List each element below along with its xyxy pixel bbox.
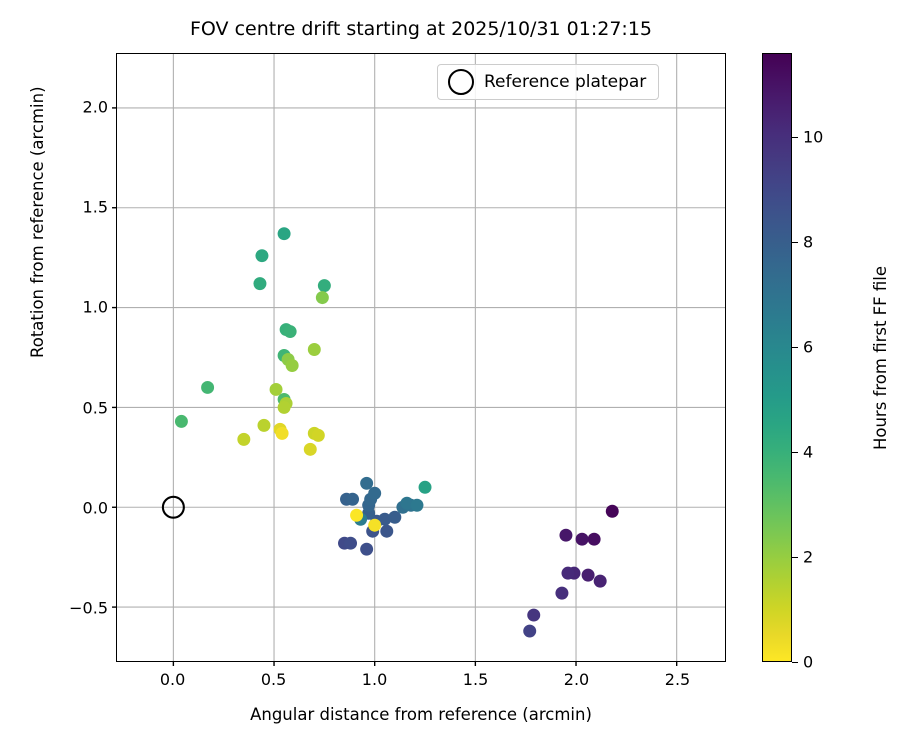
- colorbar-tick-mark: [792, 662, 798, 663]
- y-tick-label: 1.5: [50, 198, 108, 217]
- data-point: [257, 419, 270, 432]
- data-point: [368, 487, 381, 500]
- data-point: [410, 499, 423, 512]
- y-tick-label: 0.0: [50, 498, 108, 517]
- data-point: [284, 325, 297, 338]
- colorbar-tick-mark: [792, 557, 798, 558]
- figure-canvas: FOV centre drift starting at 2025/10/31 …: [0, 0, 900, 750]
- colorbar-tick-mark: [792, 452, 798, 453]
- data-point: [237, 433, 250, 446]
- plot-svg: [117, 54, 725, 661]
- data-point: [561, 567, 574, 580]
- data-point: [253, 277, 266, 290]
- legend[interactable]: Reference platepar: [437, 64, 659, 100]
- data-point: [419, 481, 432, 494]
- data-point: [255, 249, 268, 262]
- data-point: [316, 291, 329, 304]
- data-point: [286, 359, 299, 372]
- legend-item-label: Reference platepar: [484, 72, 646, 92]
- data-point: [368, 519, 381, 532]
- x-tick-label: 1.0: [362, 670, 387, 689]
- data-point: [175, 415, 188, 428]
- x-axis-label: Angular distance from reference (arcmin): [116, 705, 726, 724]
- colorbar-tick-label: 2: [803, 548, 813, 567]
- x-tick-label: 0.5: [261, 670, 286, 689]
- colorbar-tick-label: 6: [803, 338, 813, 357]
- data-point: [388, 511, 401, 524]
- data-point: [308, 343, 321, 356]
- data-point: [360, 543, 373, 556]
- data-point: [380, 525, 393, 538]
- data-point: [523, 625, 536, 638]
- colorbar-tick-label: 8: [803, 233, 813, 252]
- data-point: [318, 279, 331, 292]
- y-tick-label: 0.5: [50, 398, 108, 417]
- x-tick-label: 2.0: [564, 670, 589, 689]
- data-point: [346, 493, 359, 506]
- data-point: [606, 505, 619, 518]
- data-point: [350, 509, 363, 522]
- y-tick-label: −0.5: [50, 598, 108, 617]
- colorbar: [762, 53, 792, 662]
- data-point: [527, 609, 540, 622]
- data-point: [555, 587, 568, 600]
- data-point: [278, 401, 291, 414]
- data-point: [594, 575, 607, 588]
- data-point: [276, 427, 289, 440]
- x-tick-label: 2.5: [665, 670, 690, 689]
- data-point: [360, 477, 373, 490]
- colorbar-tick-label: 4: [803, 443, 813, 462]
- y-tick-label: 1.0: [50, 298, 108, 317]
- data-point: [278, 227, 291, 240]
- scatter-plot-axes: [116, 53, 726, 662]
- data-point: [304, 443, 317, 456]
- colorbar-tick-mark: [792, 242, 798, 243]
- data-point: [270, 383, 283, 396]
- colorbar-tick-label: 0: [803, 653, 813, 672]
- data-point: [576, 533, 589, 546]
- x-tick-label: 0.0: [160, 670, 185, 689]
- colorbar-label: Hours from first FF file: [871, 265, 890, 449]
- data-point: [588, 533, 601, 546]
- y-tick-label: 2.0: [50, 98, 108, 117]
- colorbar-gradient: [762, 53, 792, 662]
- reference-platepar-marker-icon: [448, 69, 474, 95]
- colorbar-tick-mark: [792, 137, 798, 138]
- colorbar-tick-label: 10: [803, 128, 823, 147]
- data-point: [582, 569, 595, 582]
- data-point: [312, 429, 325, 442]
- data-point: [344, 537, 357, 550]
- x-tick-label: 1.5: [463, 670, 488, 689]
- data-point: [201, 381, 214, 394]
- data-point: [559, 529, 572, 542]
- colorbar-tick-mark: [792, 347, 798, 348]
- page-title: FOV centre drift starting at 2025/10/31 …: [116, 18, 726, 40]
